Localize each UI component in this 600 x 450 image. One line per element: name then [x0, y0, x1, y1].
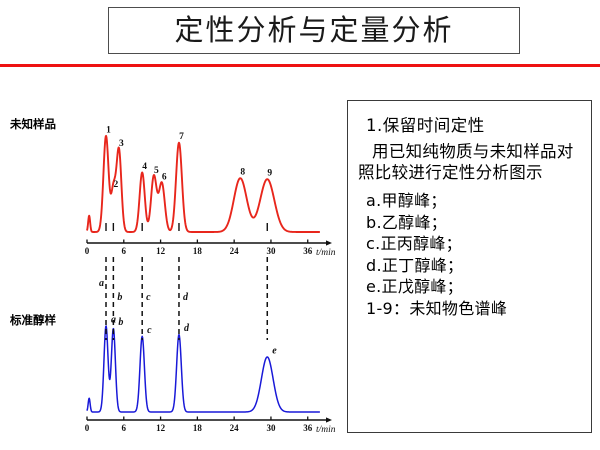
- title-divider-rule: [0, 64, 600, 67]
- x-axis-unit-unknown-sample: t/min: [316, 248, 336, 258]
- chart-title-alcohol-standard: 标准醇样: [9, 313, 56, 327]
- x-tick-label-unknown-sample-0: 0: [85, 246, 90, 256]
- x-axis-unit-alcohol-standard: t/min: [316, 425, 336, 435]
- x-axis-arrow-alcohol-standard: [326, 417, 332, 422]
- legend-item-d: d.正丁醇峰；: [366, 255, 585, 277]
- correspondence-letter-b: b: [117, 292, 122, 303]
- correspondence-letter-d: d: [183, 292, 189, 303]
- peak-label-alcohol-standard-d: d: [184, 323, 190, 334]
- legend-item-e: e.正戊醇峰；: [366, 276, 585, 298]
- panel-footnote: 1-9：未知物色谱峰: [366, 298, 585, 320]
- peak-label-unknown-sample-4: 4: [142, 162, 147, 172]
- x-tick-label-alcohol-standard-12: 12: [156, 423, 166, 433]
- x-axis-arrow-unknown-sample: [326, 240, 332, 245]
- x-tick-label-alcohol-standard-6: 6: [122, 423, 127, 433]
- x-tick-label-unknown-sample-18: 18: [193, 246, 203, 256]
- chromatogram-trace-unknown-sample: [87, 136, 320, 232]
- x-tick-label-unknown-sample-30: 30: [266, 246, 276, 256]
- peak-label-unknown-sample-5: 5: [154, 166, 159, 176]
- peak-label-unknown-sample-6: 6: [162, 173, 167, 183]
- peak-legend-list: a.甲醇峰；b.乙醇峰；c.正丙醇峰；d.正丁醇峰；e.正戊醇峰；: [356, 190, 585, 298]
- slide-root: 定性分析与定量分析 未知样品123456789061218243036t/min…: [0, 0, 600, 450]
- peak-label-unknown-sample-2: 2: [113, 180, 118, 190]
- x-tick-label-alcohol-standard-36: 36: [303, 423, 313, 433]
- chromatogram-trace-alcohol-standard: [87, 326, 320, 412]
- chart-title-unknown-sample: 未知样品: [9, 117, 56, 131]
- correspondence-letter-c: c: [146, 292, 151, 303]
- panel-body-text: 用已知纯物质与未知样品对照比较进行定性分析图示: [358, 141, 585, 183]
- explanation-panel: 1.保留时间定性 用已知纯物质与未知样品对照比较进行定性分析图示 a.甲醇峰；b…: [347, 100, 592, 433]
- peak-label-unknown-sample-8: 8: [240, 168, 245, 178]
- legend-item-c: c.正丙醇峰；: [366, 233, 585, 255]
- panel-heading: 1.保留时间定性: [366, 112, 585, 136]
- peak-label-unknown-sample-9: 9: [267, 169, 272, 179]
- slide-title-box: 定性分析与定量分析: [108, 7, 520, 54]
- chromatogram-svg: 未知样品123456789061218243036t/min标准醇样abcde0…: [0, 92, 340, 444]
- chart-unknown-sample: 未知样品123456789061218243036t/min: [9, 117, 336, 258]
- peak-label-alcohol-standard-e: e: [272, 345, 277, 356]
- peak-label-alcohol-standard-b: b: [118, 317, 123, 328]
- legend-item-b: b.乙醇峰；: [366, 212, 585, 234]
- x-tick-label-unknown-sample-36: 36: [303, 246, 313, 256]
- page-title: 定性分析与定量分析: [174, 16, 453, 45]
- x-tick-label-alcohol-standard-24: 24: [230, 423, 240, 433]
- chromatogram-figure: 未知样品123456789061218243036t/min标准醇样abcde0…: [0, 92, 340, 444]
- peak-label-unknown-sample-7: 7: [179, 132, 184, 142]
- x-tick-label-alcohol-standard-30: 30: [266, 423, 276, 433]
- panel-body-span: 用已知纯物质与未知样品对照比较进行定性分析图示: [358, 141, 585, 183]
- peak-label-alcohol-standard-c: c: [147, 325, 152, 336]
- x-tick-label-unknown-sample-12: 12: [156, 246, 166, 256]
- x-tick-label-unknown-sample-24: 24: [230, 246, 240, 256]
- x-tick-label-alcohol-standard-18: 18: [193, 423, 203, 433]
- peak-label-unknown-sample-1: 1: [106, 126, 111, 136]
- legend-item-a: a.甲醇峰；: [366, 190, 585, 212]
- peak-label-unknown-sample-3: 3: [119, 139, 124, 149]
- correspondence-letter-a: a: [99, 278, 104, 289]
- chart-alcohol-standard: 标准醇样abcde061218243036t/min: [9, 313, 336, 435]
- x-tick-label-unknown-sample-6: 6: [122, 246, 127, 256]
- x-tick-label-alcohol-standard-0: 0: [85, 423, 90, 433]
